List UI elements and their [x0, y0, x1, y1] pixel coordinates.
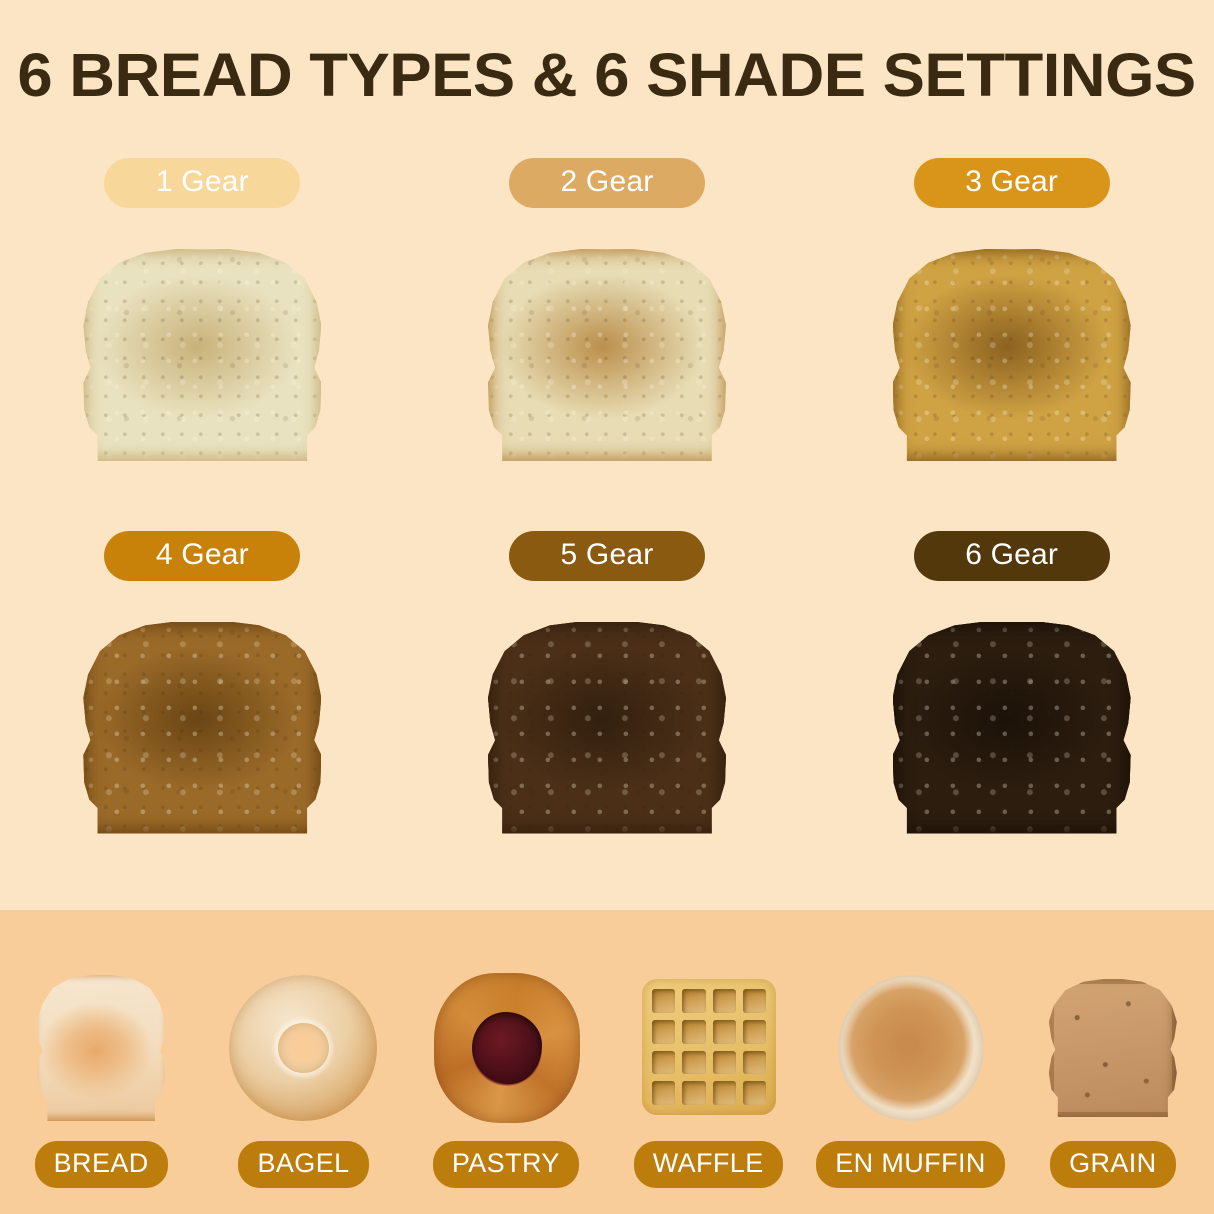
gear-pill-6[interactable]: 6 Gear — [914, 531, 1110, 581]
bread-type-pastry[interactable]: PASTRY — [405, 910, 607, 1214]
grain-bread-icon — [1033, 967, 1193, 1127]
shade-cell-4: 4 Gear — [0, 531, 405, 904]
shade-cell-3: 3 Gear — [809, 158, 1214, 531]
bread-type-grain[interactable]: GRAIN — [1012, 910, 1214, 1214]
toast-slice-art-3 — [893, 249, 1131, 461]
toast-slice-art-6 — [893, 622, 1131, 834]
bread-type-bagel[interactable]: BAGEL — [202, 910, 404, 1214]
bread-type-label-bread[interactable]: BREAD — [35, 1141, 168, 1188]
bread-type-en-muffin[interactable]: EN MUFFIN — [809, 910, 1011, 1214]
toaster-feature-poster: 6 BREAD TYPES & 6 SHADE SETTINGS 1 Gear … — [0, 0, 1214, 1214]
bread-type-bread[interactable]: BREAD — [0, 910, 202, 1214]
gear-pill-1[interactable]: 1 Gear — [104, 158, 300, 208]
bread-type-label-en-muffin[interactable]: EN MUFFIN — [816, 1141, 1005, 1188]
english-muffin-icon — [830, 967, 990, 1127]
toast-slice-shade-1 — [83, 249, 321, 461]
gear-pill-5[interactable]: 5 Gear — [509, 531, 705, 581]
bread-slice-icon — [21, 967, 181, 1127]
toast-slice-art-4 — [83, 622, 321, 834]
bread-type-label-grain[interactable]: GRAIN — [1050, 1141, 1176, 1188]
bread-type-label-pastry[interactable]: PASTRY — [433, 1141, 579, 1188]
gear-pill-2[interactable]: 2 Gear — [509, 158, 705, 208]
toast-slice-shade-4 — [83, 622, 321, 834]
shade-cell-5: 5 Gear — [405, 531, 810, 904]
shade-cell-1: 1 Gear — [0, 158, 405, 531]
bagel-icon — [223, 967, 383, 1127]
gear-pill-4[interactable]: 4 Gear — [104, 531, 300, 581]
toast-slice-art-5 — [488, 622, 726, 834]
bread-type-label-waffle[interactable]: WAFFLE — [634, 1141, 783, 1188]
pastry-danish-icon — [426, 967, 586, 1127]
waffle-icon — [628, 967, 788, 1127]
toast-slice-shade-6 — [893, 622, 1131, 834]
toast-slice-art-1 — [83, 249, 321, 461]
gear-pill-3[interactable]: 3 Gear — [914, 158, 1110, 208]
bread-type-label-bagel[interactable]: BAGEL — [238, 1141, 368, 1188]
shade-cell-2: 2 Gear — [405, 158, 810, 531]
shade-cell-6: 6 Gear — [809, 531, 1214, 904]
toast-slice-art-2 — [488, 249, 726, 461]
toast-slice-shade-2 — [488, 249, 726, 461]
toast-slice-shade-3 — [893, 249, 1131, 461]
title-area: 6 BREAD TYPES & 6 SHADE SETTINGS — [0, 0, 1214, 150]
page-title: 6 BREAD TYPES & 6 SHADE SETTINGS — [18, 40, 1196, 110]
bread-type-waffle[interactable]: WAFFLE — [607, 910, 809, 1214]
bread-types-row: BREAD BAGEL PASTRY WA — [0, 910, 1214, 1214]
shade-settings-grid: 1 Gear 2 Gear 3 Gear — [0, 158, 1214, 903]
toast-slice-shade-5 — [488, 622, 726, 834]
bread-types-strip: BREAD BAGEL PASTRY WA — [0, 910, 1214, 1214]
